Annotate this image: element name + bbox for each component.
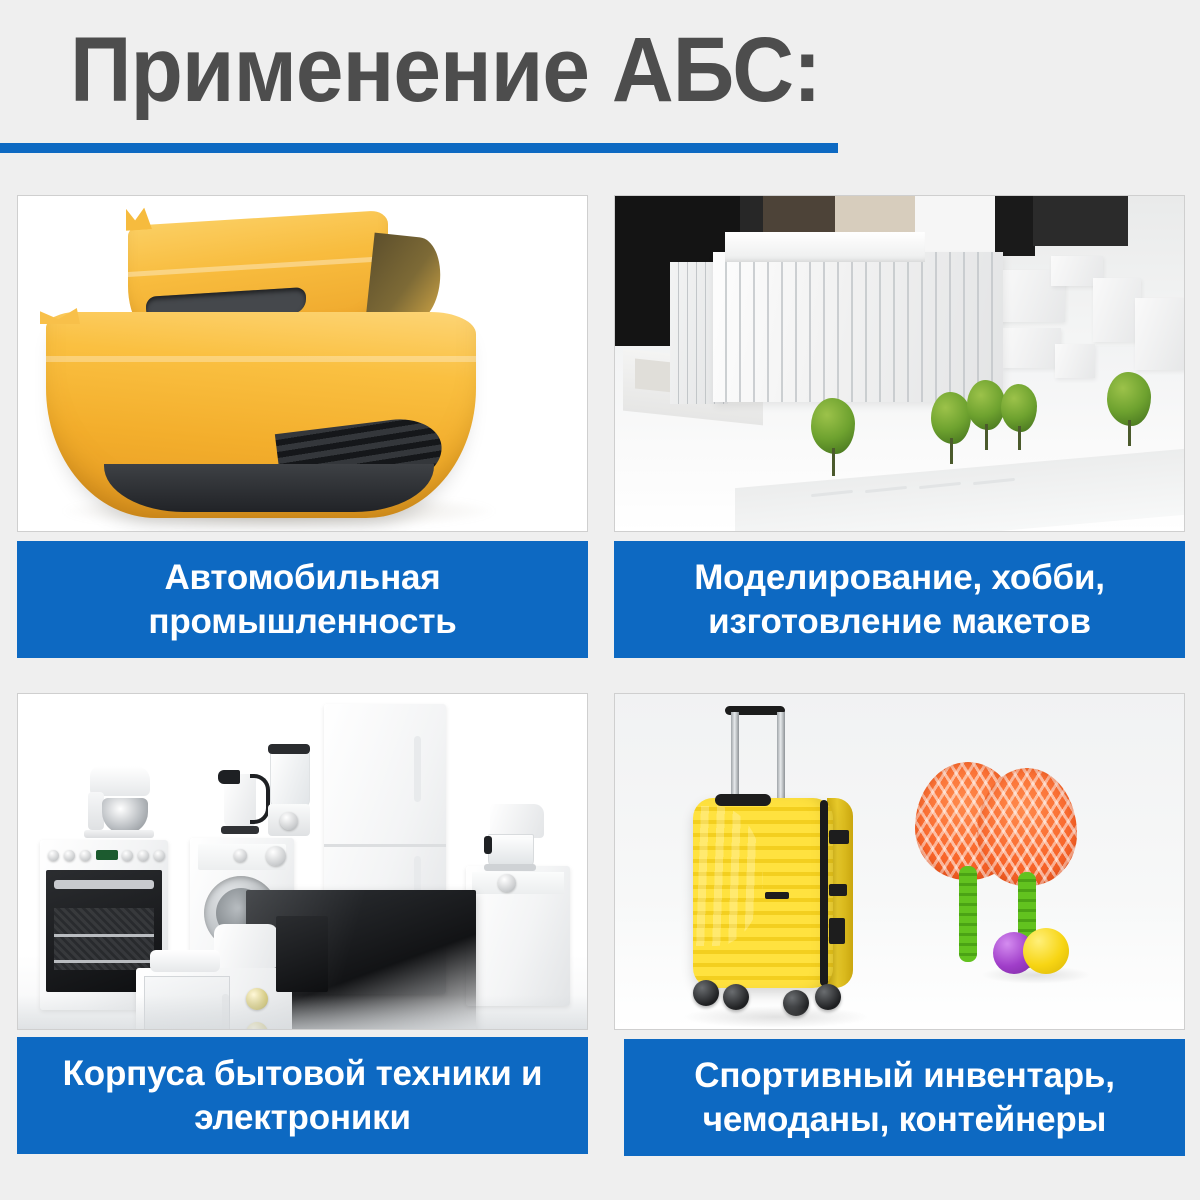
card-appliances[interactable]: Корпуса бытовой техники и электроники xyxy=(17,693,588,1154)
sandwich-maker xyxy=(150,950,220,972)
model-tree xyxy=(931,392,971,464)
suitcase-wheel xyxy=(815,984,841,1010)
page-title: Применение АБС: xyxy=(70,22,821,119)
home-appliances-photo xyxy=(17,693,588,1030)
stove-knob[interactable] xyxy=(64,850,75,861)
card-sport-luggage[interactable]: Спортивный инвентарь, чемоданы, контейне… xyxy=(614,693,1185,1156)
washer-program-dial[interactable] xyxy=(266,846,286,866)
model-tree xyxy=(1001,384,1037,452)
front-bumper-lip xyxy=(104,464,434,512)
rear-bumper-left-tip xyxy=(126,207,152,231)
washer-knob[interactable] xyxy=(234,849,247,862)
yellow-ball xyxy=(1023,928,1069,974)
architectural-model-illustration xyxy=(615,196,1184,531)
stove-knob[interactable] xyxy=(122,850,133,861)
card-caption: Автомобильная промышленность xyxy=(17,541,588,658)
blender-lid xyxy=(268,744,310,754)
sport-luggage-photo xyxy=(614,693,1185,1030)
blender-knob[interactable] xyxy=(280,812,298,830)
stand-mixer-base xyxy=(84,830,154,838)
stove-knob[interactable] xyxy=(80,850,91,861)
coffee-maker-base xyxy=(484,864,536,871)
car-bumpers-illustration xyxy=(18,196,587,531)
dishwasher-dial[interactable] xyxy=(498,874,516,892)
toaster xyxy=(214,924,278,968)
card-caption: Корпуса бытовой техники и электроники xyxy=(17,1037,588,1154)
kettle-handle xyxy=(250,774,270,824)
card-caption: Спортивный инвентарь, чемоданы, контейне… xyxy=(624,1039,1185,1156)
stove-knob[interactable] xyxy=(154,850,165,861)
kettle-base xyxy=(221,826,259,834)
suitcase-logo-plate xyxy=(765,892,789,899)
refrigerator-door-gap xyxy=(324,844,446,847)
model-roof-block xyxy=(725,232,925,262)
home-appliances-illustration xyxy=(18,694,587,1029)
suitcase-zipper xyxy=(820,800,828,986)
stove-knob[interactable] xyxy=(138,850,149,861)
model-tree xyxy=(967,380,1005,452)
car-bumpers-photo xyxy=(17,195,588,532)
oven-rack xyxy=(54,960,154,963)
sport-luggage-illustration xyxy=(615,694,1184,1029)
model-main-building xyxy=(713,252,1003,402)
card-automotive[interactable]: Автомобильная промышленность xyxy=(17,195,588,658)
model-tree xyxy=(811,398,855,476)
background-white-column xyxy=(915,196,1001,252)
refrigerator-handle-upper xyxy=(414,736,421,802)
suitcase-shell xyxy=(693,798,833,988)
background-dark-gap xyxy=(995,196,1035,256)
stove-knob[interactable] xyxy=(48,850,59,861)
carafe-handle xyxy=(484,836,492,854)
title-underline-rule xyxy=(0,143,838,153)
suitcase-lock[interactable] xyxy=(829,918,845,944)
background-dark-strip xyxy=(1033,196,1128,246)
kettle-spout xyxy=(218,770,240,784)
suitcase-handle-rod xyxy=(731,712,739,804)
oven-handle xyxy=(54,880,154,889)
header: Применение АБС: xyxy=(0,0,1200,175)
suitcase-handle-rod xyxy=(777,712,785,804)
blender-jar xyxy=(270,750,310,808)
card-caption: Моделирование, хобби, изготовление макет… xyxy=(614,541,1185,658)
stand-mixer-bowl xyxy=(102,798,148,834)
card-modelling[interactable]: Моделирование, хобби, изготовление макет… xyxy=(614,195,1185,658)
cards-grid: Автомобильная промышленность xyxy=(0,175,1200,1200)
suitcase-wheel xyxy=(693,980,719,1006)
model-background-buildings xyxy=(993,252,1185,392)
suitcase-latch[interactable] xyxy=(829,830,849,844)
front-bumper-shape xyxy=(46,312,476,518)
dishwasher-panel xyxy=(472,872,564,894)
coffee-maker-body xyxy=(490,804,544,838)
oven-rack xyxy=(54,934,154,937)
appliance-floor-shadow xyxy=(18,995,587,1029)
suitcase-latch[interactable] xyxy=(829,884,847,896)
model-tree xyxy=(1107,372,1151,446)
suitcase-shadow xyxy=(681,1006,871,1028)
architectural-model-photo xyxy=(614,195,1185,532)
speaker-box xyxy=(276,916,328,992)
suitcase-top-handle[interactable] xyxy=(715,794,771,806)
stove-display xyxy=(96,850,118,860)
